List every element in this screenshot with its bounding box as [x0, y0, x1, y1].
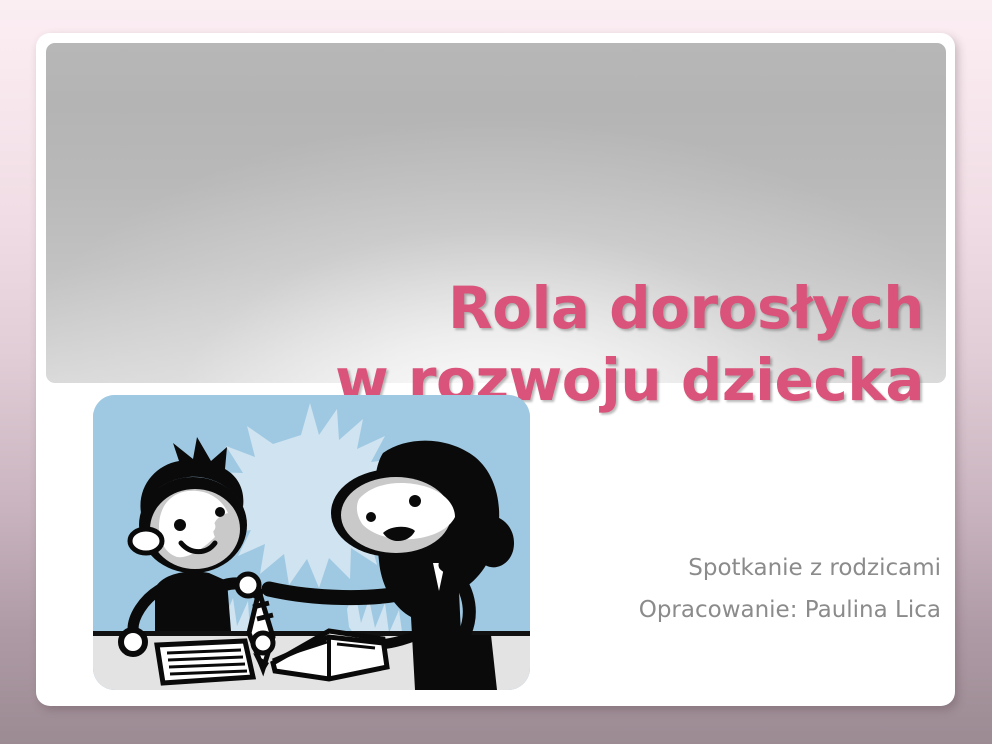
adult-helping-child-image: [93, 395, 530, 690]
paper-sheet: [157, 641, 253, 683]
subtitle-line-author: Opracowanie: Paulina Lica: [596, 590, 941, 632]
title-band: Rola dorosłych w rozwoju dziecka: [46, 43, 946, 383]
slide-canvas: Rola dorosłych w rozwoju dziecka Spotkan…: [0, 0, 992, 744]
slide-card: Rola dorosłych w rozwoju dziecka Spotkan…: [36, 33, 955, 706]
illustration-artwork: [93, 395, 530, 690]
subtitle-line-meeting: Spotkanie z rodzicami: [596, 548, 941, 590]
subtitle-block: Spotkanie z rodzicami Opracowanie: Pauli…: [596, 548, 941, 632]
